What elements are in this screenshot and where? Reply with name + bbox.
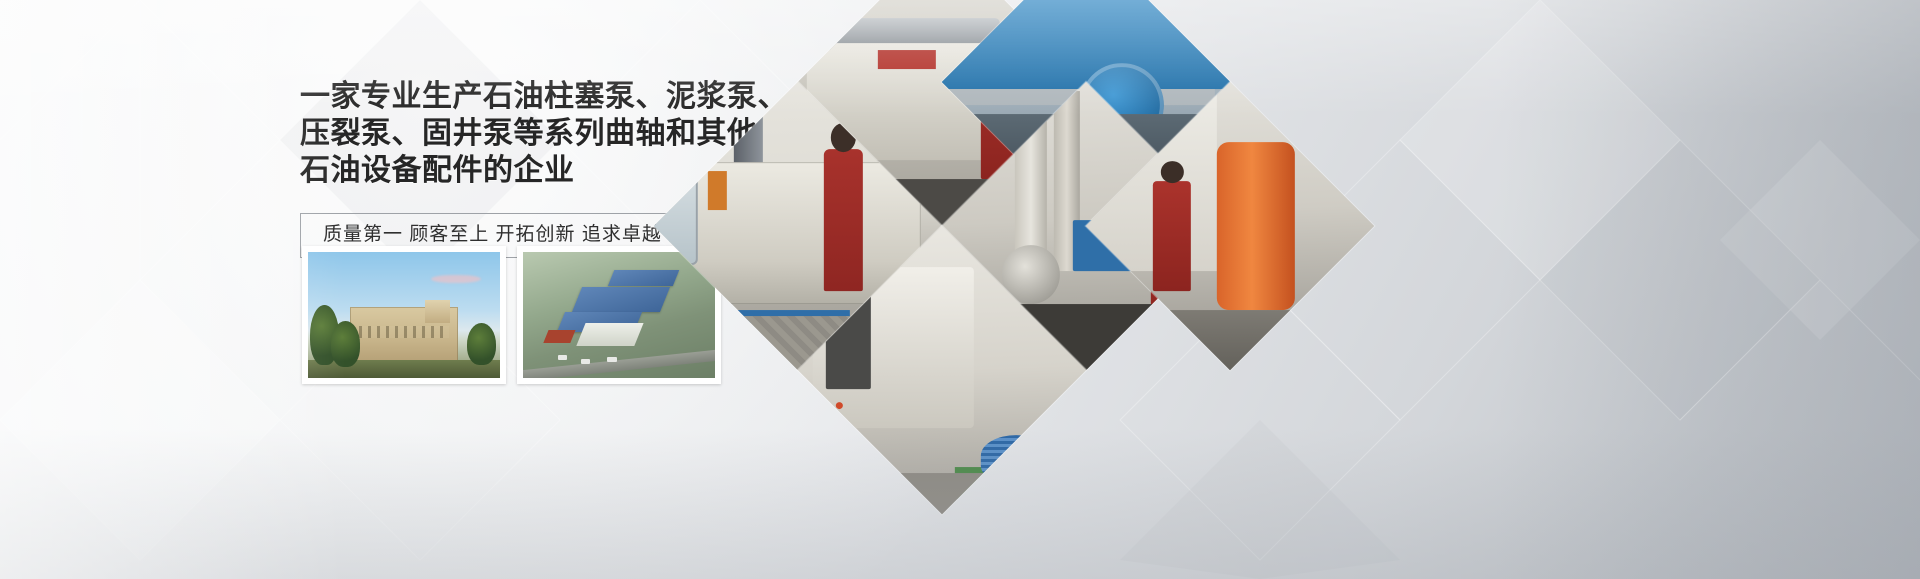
factory-aerial-photo[interactable] <box>517 246 721 384</box>
machine-label <box>878 50 936 69</box>
hero-copy-block: 一家专业生产石油柱塞泵、泥浆泵、 压裂泵、固井泵等系列曲轴和其他 石油设备配件的… <box>300 78 720 258</box>
worker-figure <box>824 149 863 291</box>
blue-coil-shape <box>981 434 1052 486</box>
factory-roof-shape <box>608 270 680 286</box>
factory-road <box>523 346 715 378</box>
indicator-light-yellow <box>836 441 843 448</box>
orange-tank-shape <box>1217 142 1294 310</box>
tree-shape <box>467 323 496 366</box>
cloud-shape <box>431 275 481 284</box>
orange-part <box>708 171 727 210</box>
company-photo-row <box>302 246 721 384</box>
diamond-photo-collage <box>696 44 1286 404</box>
car-shape <box>607 357 617 362</box>
factory-roof-shape <box>572 287 670 312</box>
office-tower-shape <box>425 300 450 323</box>
shop-floor <box>798 473 1086 514</box>
hero-banner: 一家专业生产石油柱塞泵、泥浆泵、 压裂泵、固井泵等系列曲轴和其他 石油设备配件的… <box>0 0 1920 579</box>
headline-line-3: 石油设备配件的企业 <box>300 152 720 189</box>
headline-line-1: 一家专业生产石油柱塞泵、泥浆泵、 <box>300 78 720 115</box>
worker-figure <box>1153 181 1192 291</box>
car-shape <box>581 359 591 364</box>
tree-shape <box>331 321 360 366</box>
factory-red-roof <box>543 330 575 343</box>
factory-white-building <box>576 323 643 346</box>
indicator-light-red <box>836 402 843 409</box>
slogan-text: 质量第一 顾客至上 开拓创新 追求卓越 <box>323 224 662 245</box>
headline-line-2: 压裂泵、固井泵等系列曲轴和其他 <box>300 115 720 152</box>
indicator-light-green <box>836 422 843 429</box>
office-building-photo[interactable] <box>302 246 506 384</box>
machine-column <box>734 82 763 175</box>
car-shape <box>558 355 568 360</box>
